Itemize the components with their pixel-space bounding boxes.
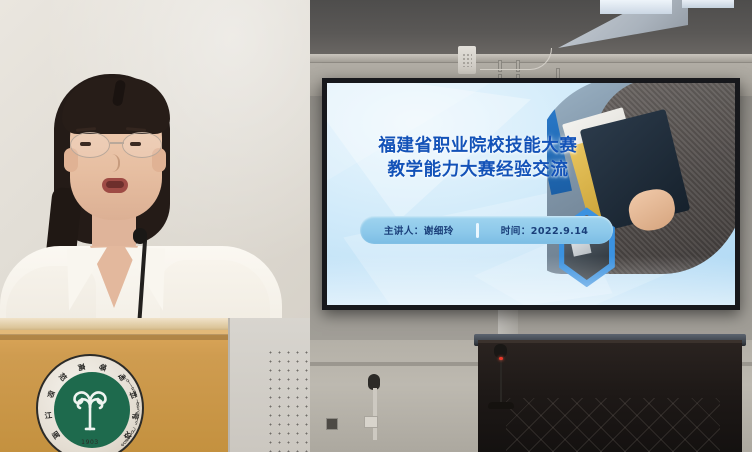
microphone-stem-right xyxy=(500,352,502,408)
collar-left xyxy=(67,247,109,310)
projection-screen[interactable]: 福建省职业院校技能大赛 教学能力大赛经验交流 主讲人：谢细玲 时间：2022.9… xyxy=(322,78,740,310)
slide-title: 福建省职业院校技能大赛 教学能力大赛经验交流 xyxy=(343,134,612,182)
screenshot-stage: 闽江师范高等专科学校 Minjiang Teachers College 190… xyxy=(0,0,752,452)
seal-english-text: Minjiang Teachers College xyxy=(38,356,144,452)
seal-year: 1903 xyxy=(38,439,142,446)
ceiling-light-secondary-icon xyxy=(682,0,734,8)
eye-right xyxy=(130,142,141,146)
microphone-led-indicator xyxy=(499,357,503,360)
left-panel-presenter: 闽江师范高等专科学校 Minjiang Teachers College 190… xyxy=(0,0,310,452)
wall-outlet-dark xyxy=(326,418,338,430)
right-panel-classroom: 福建省职业院校技能大赛 教学能力大赛经验交流 主讲人：谢细玲 时间：2022.9… xyxy=(310,0,752,452)
hanging-cable xyxy=(480,48,552,70)
mouth xyxy=(102,178,128,193)
screen-surface: 福建省职业院校技能大赛 教学能力大赛经验交流 主讲人：谢细玲 时间：2022.9… xyxy=(327,83,735,305)
speaker-grille-left xyxy=(266,348,310,452)
slide-title-line-1: 福建省职业院校技能大赛 xyxy=(378,136,577,156)
ceiling-light-icon xyxy=(600,0,672,14)
wall-speaker-icon xyxy=(458,46,476,74)
microphone-base xyxy=(488,402,514,409)
college-seal: 闽江师范高等专科学校 Minjiang Teachers College 190… xyxy=(36,354,144,452)
microphone-icon-right xyxy=(494,344,507,358)
wall-conduit xyxy=(373,388,377,440)
slide-pill-divider xyxy=(476,223,479,238)
microphone-icon-left xyxy=(133,228,147,244)
slide-subtitle-pill: 主讲人：谢细玲 时间：2022.9.14 xyxy=(360,216,613,244)
nose xyxy=(106,154,120,172)
eye-left xyxy=(80,142,91,146)
slide-speaker-label: 主讲人：谢细玲 xyxy=(384,223,454,237)
glasses-bridge xyxy=(110,142,124,144)
slide-reflection xyxy=(327,256,735,305)
lens-right xyxy=(122,132,162,158)
podium-edge-left xyxy=(0,334,256,340)
slide-date-label: 时间：2022.9.14 xyxy=(501,223,589,237)
lectern-diamond-pattern xyxy=(506,398,720,452)
slide-title-line-2: 教学能力大赛经验交流 xyxy=(343,158,612,182)
wall-outlet xyxy=(364,416,378,428)
